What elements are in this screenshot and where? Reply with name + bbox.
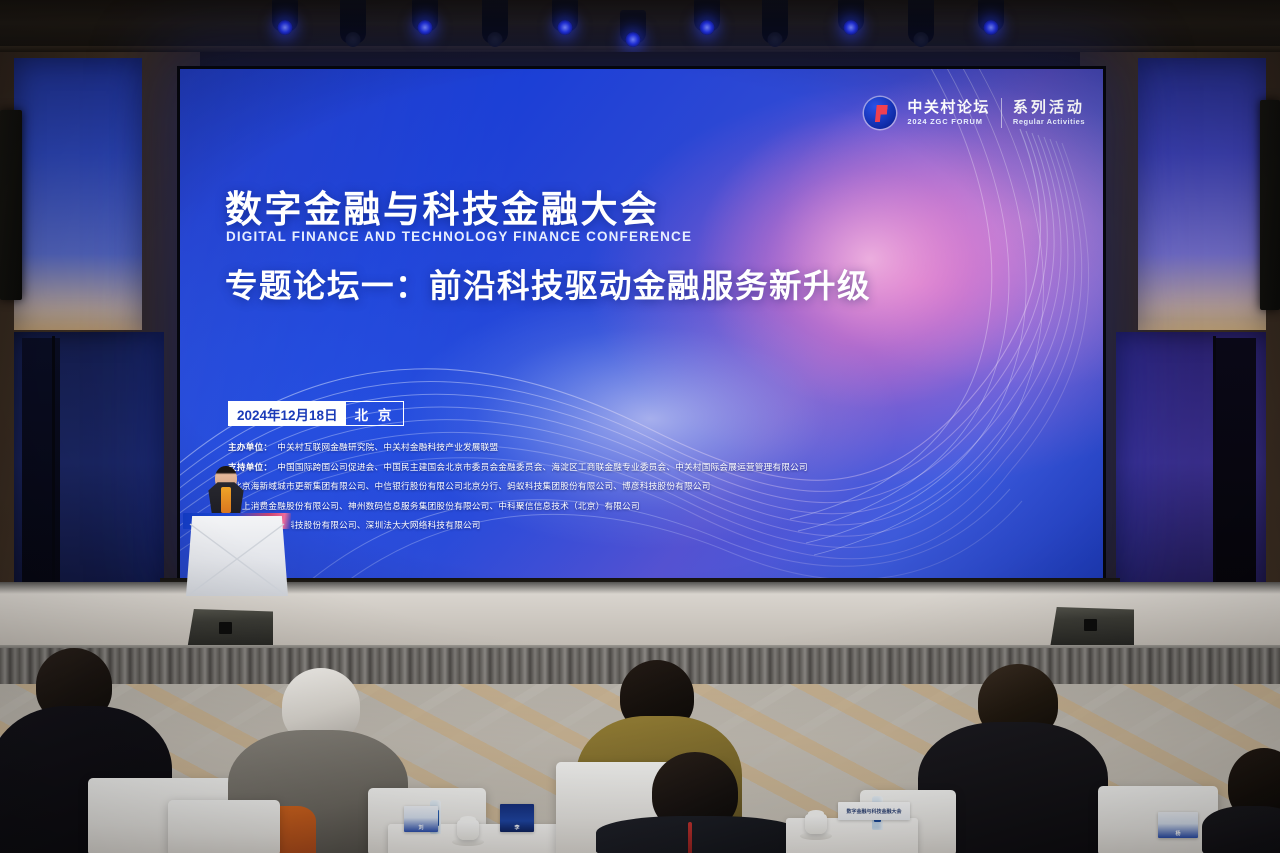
led-content: 中关村论坛 2024 ZGC FORUM 系列活动 Regular Activi… [180, 69, 1103, 579]
credit-line: 北京海新域城市更新集团有限公司、中信银行股份有限公司北京分行、蚂蚁科技集团股份有… [228, 480, 1058, 492]
credit-text: 马上消费金融股份有限公司、神州数码信息服务集团股份有限公司、中科聚信信息技术（北… [233, 501, 640, 511]
name-card: 李 [500, 804, 534, 832]
zgc-forum-logo: 中关村论坛 2024 ZGC FORUM 系列活动 Regular Activi… [864, 97, 1085, 129]
stage-monitor-left [187, 609, 273, 650]
logo-chinese-name: 中关村论坛 [907, 100, 990, 116]
right-panel-seam [1213, 336, 1216, 622]
presenter-scarf [221, 487, 231, 513]
line-array-speaker-left [0, 110, 22, 300]
stage-light [838, 0, 864, 32]
logo-series-chinese: 系列活动 [1013, 100, 1085, 116]
tent-card: 数字金融与科技金融大会 [838, 802, 910, 820]
credit-text: 中关村互联网金融研究院、中关村金融科技产业发展联盟 [277, 442, 498, 452]
logo-english-name: 2024 ZGC FORUM [907, 117, 990, 126]
logo-series-english: Regular Activities [1013, 117, 1085, 126]
left-panel-seam [52, 336, 55, 622]
audience-chair [168, 800, 280, 853]
name-card-text: 刘 [418, 824, 423, 832]
tea-cup [805, 814, 827, 834]
right-door [1216, 338, 1256, 620]
podium-panel-lines [186, 522, 288, 596]
stage-light [340, 0, 366, 44]
stage-light [620, 10, 646, 44]
conference-title-en: DIGITAL FINANCE AND TECHNOLOGY FINANCE C… [226, 229, 692, 244]
name-card: 刘 [404, 806, 438, 832]
stage-light [694, 0, 720, 32]
zgc-flame-icon [864, 97, 896, 129]
monitor-horn [219, 622, 232, 634]
event-city: 北 京 [346, 402, 404, 425]
credit-line: 上海合合信息科技股份有限公司、深圳法大大网络科技有限公司 [228, 519, 1058, 531]
credit-text: 北京海新域城市更新集团有限公司、中信银行股份有限公司北京分行、蚂蚁科技集团股份有… [233, 481, 711, 491]
stage-light [272, 0, 298, 32]
attendee-body [596, 816, 802, 853]
tea-cup [457, 820, 479, 840]
tent-card-text: 数字金融与科技金融大会 [846, 808, 901, 815]
lanyard [688, 822, 692, 853]
credit-text: 中国国际跨国公司促进会、中国民主建国会北京市委员会金融委员会、海淀区工商联金融专… [277, 462, 808, 472]
monitor-horn [1084, 619, 1097, 631]
stage-light [762, 0, 788, 44]
name-card-text: 李 [514, 824, 519, 832]
conference-hall-photo: 中关村论坛 2024 ZGC FORUM 系列活动 Regular Activi… [0, 0, 1280, 853]
name-card-text: 杨 [1175, 830, 1180, 838]
stage-light [482, 0, 508, 44]
name-card: 杨 [1158, 812, 1198, 838]
led-screen: 中关村论坛 2024 ZGC FORUM 系列活动 Regular Activi… [177, 66, 1106, 582]
stage-monitor-right [1050, 607, 1134, 648]
right-wall-panel-upper [1138, 58, 1266, 330]
logo-divider [1001, 98, 1002, 128]
credit-line: 支持单位：中国国际跨国公司促进会、中国民主建国会北京市委员会金融委员会、海淀区工… [228, 461, 1058, 473]
credit-line: 马上消费金融股份有限公司、神州数码信息服务集团股份有限公司、中科聚信信息技术（北… [228, 500, 1058, 512]
forum-subtitle-cn: 专题论坛一：前沿科技驱动金融服务新升级 [225, 260, 871, 307]
stage-light [908, 0, 934, 44]
stage-light [552, 0, 578, 32]
conference-title-cn: 数字金融与科技金融大会 [225, 179, 660, 233]
left-wall-panel-upper [14, 58, 142, 330]
stage-light [412, 0, 438, 32]
stage-light [978, 0, 1004, 32]
credit-line: 主办单位：中关村互联网金融研究院、中关村金融科技产业发展联盟 [228, 441, 1058, 453]
attendee-body [1202, 806, 1280, 853]
event-date: 2024年12月18日 [229, 402, 346, 425]
organizer-credits: 主办单位：中关村互联网金融研究院、中关村金融科技产业发展联盟 支持单位：中国国际… [228, 441, 1058, 539]
date-location-badge: 2024年12月18日 北 京 [228, 401, 404, 426]
credit-label: 主办单位： [228, 442, 272, 452]
line-array-speaker-right [1260, 100, 1280, 310]
